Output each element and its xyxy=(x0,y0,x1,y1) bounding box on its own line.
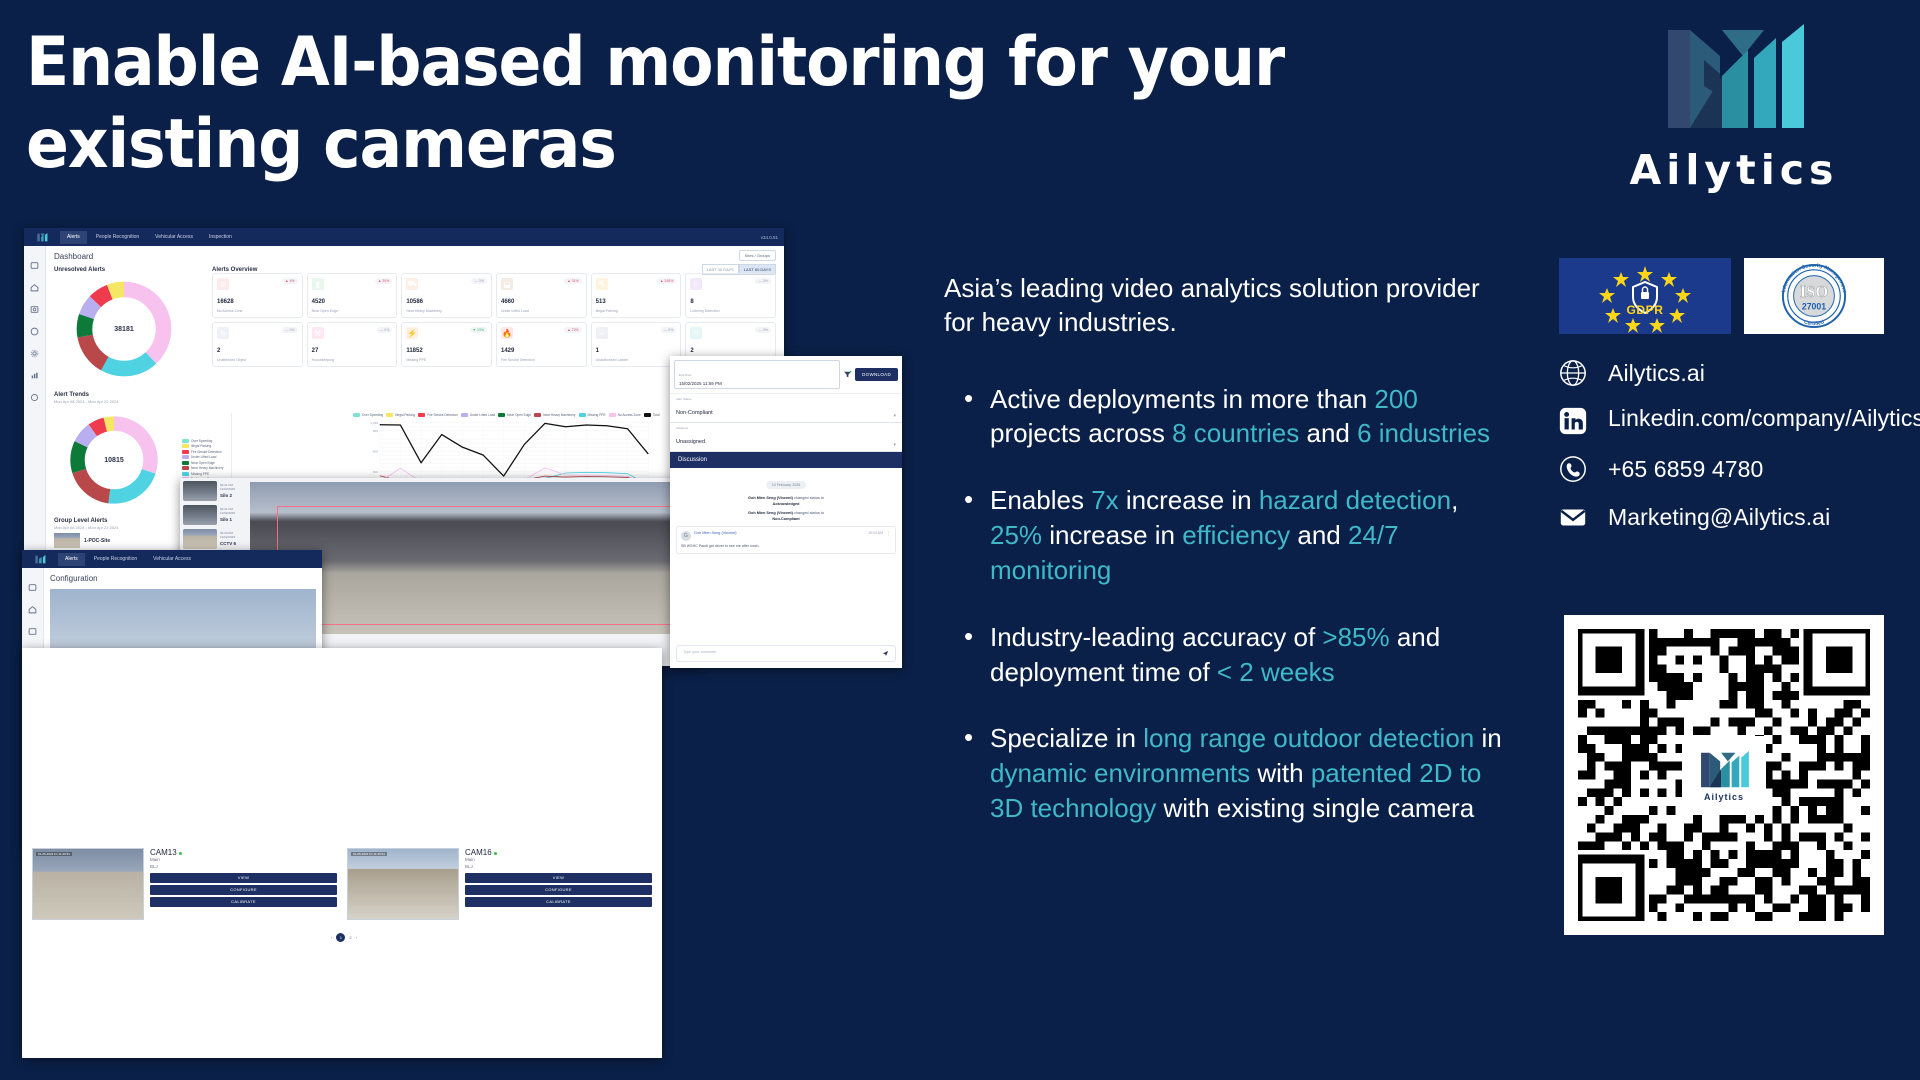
bullet-text: with existing single camera xyxy=(1156,793,1474,823)
camera-calibrate-button[interactable]: CALIBRATE xyxy=(150,897,337,907)
ailytics-bar-chart-logo-icon xyxy=(1648,16,1820,142)
trends-total: 10815 xyxy=(104,457,123,464)
detection-zone-overlay xyxy=(277,506,678,625)
trends-legend: Over SpeedingIllegal ParkingFire Smoke D… xyxy=(182,439,223,482)
clip-thumbnail[interactable]: 06:41 PM13/02/2025Silo 1 xyxy=(183,505,247,525)
alert-change: ▲ 20% xyxy=(375,278,392,284)
camera-preview[interactable]: 01-05-2024 Fri 11:26:51 xyxy=(347,848,459,920)
ladder-icon: ⌸ xyxy=(596,327,608,339)
camera-configure-button[interactable]: CONFIGURE xyxy=(150,885,337,895)
svg-text:ISO: ISO xyxy=(1800,282,1829,301)
legend-item: Near Heavy Machinery xyxy=(534,413,575,417)
contact-list: Ailytics.ai Linkedin.com/company/Ailytic… xyxy=(1556,356,1886,548)
alert-count: 1 xyxy=(596,348,599,354)
comment-author: Goh Mien Seng (Vincent) xyxy=(694,531,865,536)
sidebar-item-home[interactable] xyxy=(22,598,43,620)
alert-label: Unattended Object xyxy=(217,358,246,362)
page-title: Enable AI-based monitoring for your exis… xyxy=(26,22,1347,185)
status-event: Goh Mien Seng (Vincent) changed status t… xyxy=(676,511,896,522)
comment-placeholder: Type your comment xyxy=(683,650,716,657)
bullet-highlight: < 2 weeks xyxy=(1217,657,1335,687)
svg-text:300: 300 xyxy=(373,469,378,473)
loitering-icon: ⚐ xyxy=(690,278,702,290)
svg-text:27001: 27001 xyxy=(1802,302,1826,312)
status-event: Goh Mien Seng (Vincent) changed status t… xyxy=(676,496,896,507)
alert-label: Under Lifted Load xyxy=(501,309,529,313)
iso-badge: ISO 27001 Information Security Managemen… xyxy=(1744,258,1884,334)
alert-detail-window[interactable]: End Date 15/02/2025 11:59 PM DOWNLOAD Al… xyxy=(670,356,902,668)
legend-item: Over Speeding xyxy=(182,439,223,443)
qr-center-logo: Ailytics xyxy=(1682,736,1766,814)
unresolved-total: 38181 xyxy=(114,326,133,333)
marketing-copy: Asia’s leading video analytics solution … xyxy=(944,272,1504,858)
open-edge-icon: ▮ xyxy=(312,278,324,290)
no-entry-icon: ⊘ xyxy=(217,278,229,290)
camera-meta: CAM13 MainBLJVIEWCONFIGURECALIBRATE xyxy=(150,848,337,920)
alert-change: — 3% xyxy=(755,327,771,333)
housekeeping-icon: ⚒ xyxy=(312,327,324,339)
detail-header[interactable]: End Date 15/02/2025 11:59 PM DOWNLOAD xyxy=(670,356,902,394)
camera-calibrate-button[interactable]: CALIBRATE xyxy=(465,897,652,907)
alert-count: 10586 xyxy=(406,299,423,305)
alert-label: Missing PPE xyxy=(406,358,426,362)
comment-input[interactable]: Type your comment xyxy=(676,645,896,662)
tab-people-recognition[interactable]: People Recognition xyxy=(89,231,146,244)
page-link[interactable]: 2 xyxy=(349,935,351,940)
alert-card[interactable]: ▮▲ 20%4520Near Open Edge xyxy=(307,273,398,318)
alert-label: Near Heavy Machinery xyxy=(406,309,442,313)
unresolved-donut-chart: 38181 xyxy=(54,273,194,385)
chevron-down-icon[interactable]: ▾ xyxy=(893,413,896,419)
clip-preview[interactable] xyxy=(183,481,217,501)
avatar: G xyxy=(681,531,691,541)
alert-change: — 0% xyxy=(282,327,298,333)
bullet-item: Active deployments in more than 200 proj… xyxy=(944,382,1504,452)
alert-card[interactable]: ⛟— 3%10586Near Heavy Machinery xyxy=(401,273,492,318)
assignee-label: Assignee xyxy=(676,426,705,430)
alert-status-label: Alert Status xyxy=(676,397,713,401)
alert-card[interactable]: ⚡▼ 13%11852Missing PPE xyxy=(401,322,492,367)
trends-donut-chart: 10815 xyxy=(54,408,174,512)
alert-count: 513 xyxy=(596,299,606,305)
dashboard-page-title: Dashboard xyxy=(54,252,776,261)
qr-logo-label: Ailytics xyxy=(1704,792,1744,802)
contact-email[interactable]: Marketing@Ailytics.ai xyxy=(1556,500,1886,534)
legend-item: Total xyxy=(644,413,660,417)
alert-label: Unauthorised Ladder xyxy=(596,358,629,362)
camera-site: BLJ xyxy=(150,864,337,871)
camera-timestamp: 01-05-2024 Fri 11:26:51 xyxy=(36,852,72,856)
bullet-item: Enables 7x increase in hazard detection,… xyxy=(944,483,1504,587)
bullet-text: and xyxy=(1299,418,1357,448)
alert-count: 1429 xyxy=(501,348,514,354)
comment-menu-icon[interactable]: ⋮ xyxy=(886,531,891,537)
comment-time: 10:04 AM xyxy=(868,531,883,535)
bullet-highlight: 200 xyxy=(1374,384,1417,414)
machinery-icon: ⛟ xyxy=(406,278,418,290)
email-text: Marketing@Ailytics.ai xyxy=(1608,503,1830,531)
camera-name: CAM13 xyxy=(150,848,337,857)
next-page[interactable]: › xyxy=(356,935,357,940)
clip-meta: 06:33 PM13/02/2025CCTV 6 xyxy=(220,531,236,546)
clip-preview[interactable] xyxy=(183,505,217,525)
config-tab-people-recognition[interactable]: People Recognition xyxy=(87,553,144,566)
svg-text:600: 600 xyxy=(373,449,378,453)
svg-text:1,020: 1,020 xyxy=(371,420,379,424)
camera-site: BLJ xyxy=(465,864,652,871)
bullet-text: in xyxy=(1474,723,1501,753)
send-icon[interactable] xyxy=(882,650,889,657)
clip-preview[interactable] xyxy=(183,529,217,549)
iso-seal-icon: ISO 27001 Information Security Managemen… xyxy=(1760,262,1868,330)
clip-meta: 06:41 PM13/02/2025Silo 2 xyxy=(220,483,235,498)
alert-change: — 3% xyxy=(755,278,771,284)
dashboard-tabs[interactable]: AlertsPeople RecognitionVehicular Access… xyxy=(60,228,239,246)
config-tab-alerts[interactable]: Alerts xyxy=(58,553,85,566)
alert-card[interactable]: ⚒— 0%27Housekeeping xyxy=(307,322,398,367)
ppe-icon: ⚡ xyxy=(406,327,418,339)
discussion-date-text: 14 February, 2025 xyxy=(766,481,806,489)
globe-icon xyxy=(1556,356,1590,390)
alert-card[interactable]: ⛐▲ 245%513Illegal Parking xyxy=(591,273,682,318)
alert-card[interactable]: ⊘▲ 4%16628No Access Zone xyxy=(212,273,303,318)
bullet-highlight: >85% xyxy=(1322,622,1389,652)
discussion-date-chip: 14 February, 2025 xyxy=(670,473,902,491)
dashboard-logo-icon xyxy=(26,228,60,246)
camera-timestamp: 01-05-2024 Fri 11:26:51 xyxy=(351,852,387,856)
bullet-text: Industry-leading accuracy of xyxy=(990,622,1322,652)
config-topbar: AlertsPeople RecognitionVehicular Access xyxy=(22,550,322,568)
dashboard-controls[interactable]: Sites / Groups LAST 30 DAYS LAST 60 DAYS xyxy=(702,250,776,275)
alert-count: 8 xyxy=(690,299,693,305)
bullet-text: projects across xyxy=(990,418,1172,448)
config-tab-vehicular-access[interactable]: Vehicular Access xyxy=(146,553,198,566)
alert-card[interactable]: ✎— 0%2Unattended Object xyxy=(212,322,303,367)
page-current[interactable]: 1 xyxy=(336,933,345,942)
camera-configure-button[interactable]: CONFIGURE xyxy=(465,885,652,895)
comment-card: G Goh Mien Seng (Vincent) 10:04 AM ⋮ SB … xyxy=(676,526,896,554)
group-site-name: 1-POC-Site xyxy=(84,538,110,544)
alert-card-grid[interactable]: ⊘▲ 4%16628No Access Zone▮▲ 20%4520Near O… xyxy=(212,273,776,367)
alert-change: ▲ 4% xyxy=(282,278,298,284)
linkedin-text: Linkedin.com/company/Ailytics xyxy=(1608,404,1920,432)
alert-change: — 0% xyxy=(661,327,677,333)
filter-icon[interactable] xyxy=(843,370,852,379)
bullet-highlight: hazard detection xyxy=(1259,485,1451,515)
bullet-text: with xyxy=(1250,758,1311,788)
bullet-highlight: 7x xyxy=(1091,485,1118,515)
config-logo-icon xyxy=(24,550,58,568)
alert-change: ▲ 245% xyxy=(657,278,676,284)
bullet-text: Enables xyxy=(990,485,1091,515)
prev-page[interactable]: ‹ xyxy=(331,935,332,940)
linkedin-icon xyxy=(1556,404,1590,438)
legend-item: Under Lifted Load xyxy=(461,413,495,417)
sidebar-item-cameras[interactable] xyxy=(22,620,43,642)
bullet-item: Industry-leading accuracy of >85% and de… xyxy=(944,620,1504,690)
bullet-text: , xyxy=(1451,485,1458,515)
bullet-text: Specialize in xyxy=(990,723,1143,753)
qr-code[interactable]: Ailytics xyxy=(1564,615,1884,935)
sidebar-item-reports[interactable] xyxy=(24,254,45,276)
dashboard-topbar: AlertsPeople RecognitionVehicular Access… xyxy=(24,228,784,246)
sidebar-item-help[interactable] xyxy=(24,386,45,408)
end-date-field[interactable]: End Date 15/02/2025 11:59 PM xyxy=(674,360,840,389)
product-screenshot-collage: AlertsPeople RecognitionVehicular Access… xyxy=(22,228,930,1058)
alert-label: No Access Zone xyxy=(217,309,242,313)
contact-website[interactable]: Ailytics.ai xyxy=(1556,356,1886,390)
alert-change: — 0% xyxy=(377,327,393,333)
clip-thumbnail[interactable]: 06:33 PM13/02/2025CCTV 6 xyxy=(183,529,247,549)
brand-name: Ailytics xyxy=(1584,146,1884,194)
alert-count: 2 xyxy=(217,348,220,354)
download-button[interactable]: DOWNLOAD xyxy=(855,368,898,381)
camera-meta: CAM16 MainBLJVIEWCONFIGURECALIBRATE xyxy=(465,848,652,920)
assignee-select[interactable]: Assignee Unassigned ▾ xyxy=(670,423,902,452)
live-status-dot xyxy=(179,852,182,855)
legend-item: Missing PPE xyxy=(182,472,223,476)
gdpr-badge: GDPR xyxy=(1559,258,1731,334)
camera-stream: Main xyxy=(150,857,337,864)
legend-item: No Access Zone xyxy=(609,413,641,417)
alert-count: 11852 xyxy=(406,348,422,354)
clip-thumbnail[interactable]: 06:41 PM13/02/2025Silo 2 xyxy=(183,481,247,501)
sidebar-item-cameras[interactable] xyxy=(24,298,45,320)
parking-icon: ⛐ xyxy=(596,278,608,290)
alert-count: 16628 xyxy=(217,299,234,305)
alert-count: 27 xyxy=(312,348,319,354)
lede-text: Asia’s leading video analytics solution … xyxy=(944,272,1504,340)
assignee-value: Unassigned xyxy=(676,439,705,445)
bullet-item: Specialize in long range outdoor detecti… xyxy=(944,721,1504,825)
clip-meta: 06:41 PM13/02/2025Silo 1 xyxy=(220,507,235,522)
bullet-highlight: 8 countries xyxy=(1172,418,1299,448)
bullet-text: and xyxy=(1290,520,1348,550)
legend-item: Missing PPE xyxy=(579,413,606,417)
legend-item: Fire Smoke Detection xyxy=(182,450,223,454)
lifted-load-icon: ⬓ xyxy=(501,278,513,290)
camera-cell[interactable]: 01-05-2024 Fri 11:26:51CAM13 MainBLJVIEW… xyxy=(32,848,337,920)
legend-item: Illegal Parking xyxy=(182,444,223,448)
gdpr-label: GDPR xyxy=(1559,303,1731,317)
qr-pattern: Ailytics xyxy=(1578,629,1870,921)
legend-item: Near Open Edge xyxy=(182,461,223,465)
bullet-highlight: long range outdoor detection xyxy=(1143,723,1474,753)
sidebar-item-reports[interactable] xyxy=(22,576,43,598)
email-icon xyxy=(1556,500,1590,534)
benefit-bullets: Active deployments in more than 200 proj… xyxy=(944,382,1504,826)
end-date-label: End Date xyxy=(679,373,692,377)
version-label: v34.0.51 xyxy=(761,235,784,240)
tab-inspection[interactable]: Inspection xyxy=(202,231,239,244)
contact-phone[interactable]: +65 6859 4780 xyxy=(1556,452,1886,486)
discussion-header: Discussion xyxy=(670,452,902,468)
alert-label: Near Open Edge xyxy=(312,309,338,313)
bullet-highlight: efficiency xyxy=(1182,520,1290,550)
alert-status-value: Non-Compliant xyxy=(676,410,713,416)
sidebar-item-home[interactable] xyxy=(24,276,45,298)
config-page-title: Configuration xyxy=(50,574,316,583)
contact-linkedin[interactable]: Linkedin.com/company/Ailytics xyxy=(1556,404,1886,438)
camera-cell[interactable]: 01-05-2024 Fri 11:26:51CAM16 MainBLJVIEW… xyxy=(347,848,652,920)
comment-body: SB WSHC Pandi get driver to see me after… xyxy=(681,544,891,549)
alert-count: 4520 xyxy=(312,299,325,305)
alert-card[interactable]: ⚐— 3%8Loitering Detection xyxy=(685,273,776,318)
live-status-dot xyxy=(494,852,497,855)
status-event-list: Goh Mien Seng (Vincent) changed status t… xyxy=(670,496,902,522)
website-text: Ailytics.ai xyxy=(1608,359,1705,387)
legend-item: Under Lifted Load xyxy=(182,455,223,459)
legend-item: Over Speeding xyxy=(353,413,383,417)
bullet-text: increase in xyxy=(1042,520,1182,550)
alert-label: Fire Smoke Detection xyxy=(501,358,535,362)
bullet-highlight: 6 industries xyxy=(1357,418,1490,448)
legend-item: Near Open Edge xyxy=(498,413,531,417)
alert-change: — 3% xyxy=(471,278,487,284)
sidebar-item-analytics[interactable] xyxy=(24,364,45,386)
alert-card[interactable]: ⌸— 0%1Unauthorised Ladder xyxy=(591,322,682,367)
legend-item: Fire Smoke Detection xyxy=(418,413,458,417)
tab-vehicular-access[interactable]: Vehicular Access xyxy=(148,231,200,244)
legend-item: Illegal Parking xyxy=(386,413,415,417)
alert-change: ▲ 31% xyxy=(564,278,581,284)
alert-label: Illegal Parking xyxy=(596,309,618,313)
bullet-highlight: 25% xyxy=(990,520,1042,550)
camera-view-button[interactable]: VIEW xyxy=(465,873,652,883)
bullet-text: Active deployments in more than xyxy=(990,384,1374,414)
phone-text: +65 6859 4780 xyxy=(1608,455,1763,483)
camera-view-button[interactable]: VIEW xyxy=(150,873,337,883)
sites-groups-filter[interactable]: Sites / Groups xyxy=(739,250,776,261)
ailytics-mini-logo-icon xyxy=(1695,748,1753,792)
trends-heading: Alert Trends xyxy=(54,392,776,398)
camera-grid-window[interactable]: 01-05-2024 Fri 11:26:51CAM13 MainBLJVIEW… xyxy=(22,648,662,1058)
alert-label: Housekeeping xyxy=(312,358,334,362)
bullet-text: increase in xyxy=(1119,485,1259,515)
alert-count: 2 xyxy=(690,348,693,354)
chevron-down-icon[interactable]: ▾ xyxy=(893,442,896,448)
alert-count: 4660 xyxy=(501,299,514,305)
fire-icon: 🔥 xyxy=(501,327,513,339)
camera-stream: Main xyxy=(465,857,652,864)
object-icon: ✎ xyxy=(217,327,229,339)
sidebar-item-settings[interactable] xyxy=(24,342,45,364)
svg-text:900: 900 xyxy=(373,429,378,433)
alert-change: ▲ 72% xyxy=(564,327,581,333)
alert-label: Loitering Detection xyxy=(690,309,719,313)
alert-card[interactable]: 🔥▲ 72%1429Fire Smoke Detection xyxy=(496,322,587,367)
trends-range: Mon Apr 08 2024 - Mon Apr 22 2024 xyxy=(54,399,776,404)
config-tabs[interactable]: AlertsPeople RecognitionVehicular Access xyxy=(58,550,198,568)
alert-card[interactable]: ⬓▲ 31%4660Under Lifted Load xyxy=(496,273,587,318)
camera-grid[interactable]: 01-05-2024 Fri 11:26:51CAM13 MainBLJVIEW… xyxy=(22,838,662,930)
traffic-icon: ⛗ xyxy=(690,327,702,339)
dashboard-sidebar[interactable] xyxy=(24,246,46,588)
alert-change: ▼ 13% xyxy=(470,327,487,333)
phone-icon xyxy=(1556,452,1590,486)
brand-logo: Ailytics xyxy=(1584,16,1884,194)
sidebar-item-messages[interactable] xyxy=(24,320,45,342)
camera-name: CAM16 xyxy=(465,848,652,857)
camera-grid-pagination[interactable]: ‹12› xyxy=(22,930,662,942)
bullet-highlight: dynamic environments xyxy=(990,758,1250,788)
camera-preview[interactable]: 01-05-2024 Fri 11:26:51 xyxy=(32,848,144,920)
legend-item: Near Heavy Machinery xyxy=(182,466,223,470)
tab-alerts[interactable]: Alerts xyxy=(60,231,87,244)
certification-badges: GDPR ISO 27001 Information Security Mana… xyxy=(1559,258,1884,334)
alert-status-select[interactable]: Alert Status Non-Compliant ▾ xyxy=(670,394,902,423)
group-site-thumbnail xyxy=(54,533,80,548)
end-date-value: 15/02/2025 11:59 PM xyxy=(679,381,835,386)
